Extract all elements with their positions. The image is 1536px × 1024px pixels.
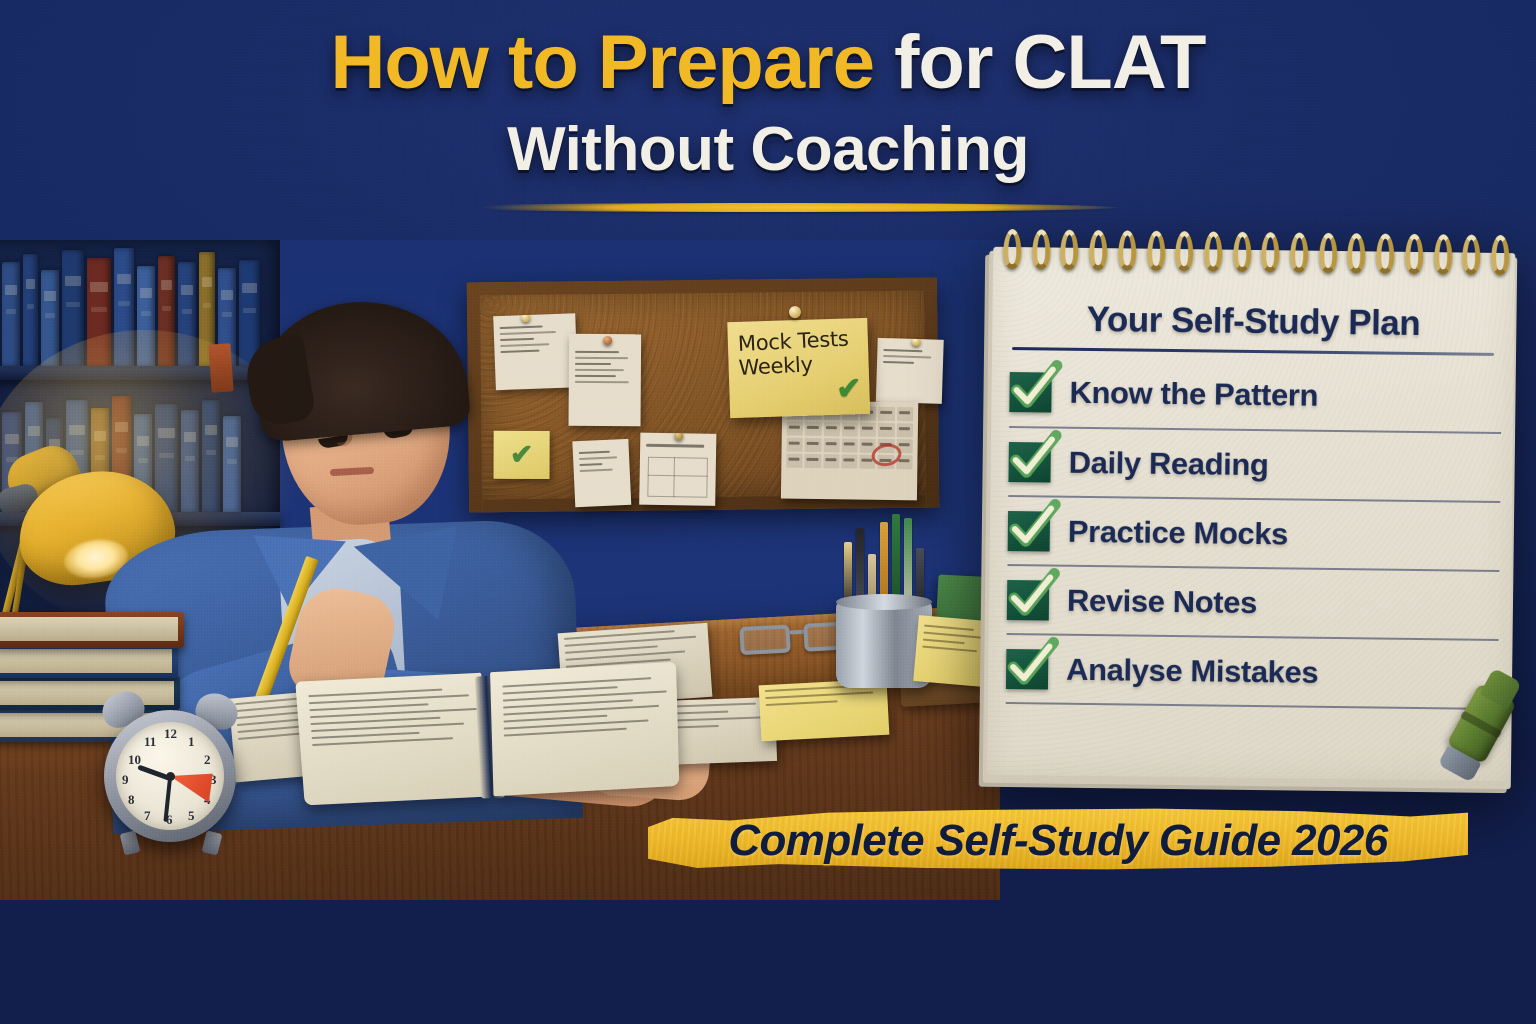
spiral-coil — [1290, 232, 1308, 272]
spiral-coil — [1032, 229, 1050, 269]
spiral-coil — [1347, 233, 1365, 273]
spiral-coil — [1319, 233, 1337, 273]
checklist-item-label: Analyse Mistakes — [1066, 651, 1318, 690]
poster-canvas: How to Prepare for CLAT Without Coaching — [0, 0, 1536, 1024]
checklist-item-3[interactable]: Revise Notes — [1007, 564, 1500, 639]
checklist-item-4[interactable]: Analyse Mistakes — [1006, 633, 1499, 708]
glasses-lens-left — [739, 624, 790, 655]
title-highlight: How to Prepare — [331, 20, 874, 105]
spiral-coil — [1261, 232, 1279, 272]
spiral-coil — [1204, 231, 1222, 271]
pencil-cup-rim — [836, 594, 932, 610]
clock-center-pin — [166, 772, 175, 781]
ribbon-label: Complete Self-Study Guide 2026 — [648, 816, 1468, 866]
book-bookmark — [208, 343, 233, 392]
spiral-coil — [1060, 230, 1078, 270]
checkbox-checked[interactable] — [1007, 579, 1049, 620]
corkboard-note-4 — [876, 338, 944, 404]
book-page-right — [490, 662, 679, 796]
checklist-item-0[interactable]: Know the Pattern — [1009, 357, 1502, 432]
poster-header: How to Prepare for CLAT Without Coaching — [0, 0, 1536, 240]
notepad-heading: Your Self-Study Plan — [992, 299, 1514, 345]
self-study-plan-notepad: Your Self-Study Plan Know the Pattern — [987, 247, 1522, 793]
checkbox-checked[interactable] — [1006, 648, 1048, 689]
checkbox-checked[interactable] — [1008, 510, 1050, 551]
alarm-clock: 12 1 2 3 4 5 6 7 8 9 10 11 — [96, 692, 246, 842]
spiral-coil — [1118, 230, 1136, 270]
bottom-ribbon: Complete Self-Study Guide 2026 — [648, 798, 1468, 882]
open-book — [297, 662, 683, 812]
checklist-item-label: Revise Notes — [1067, 582, 1257, 620]
checklist-item-label: Practice Mocks — [1068, 513, 1289, 552]
spiral-coil — [1089, 230, 1107, 270]
checklist-item-1[interactable]: Daily Reading — [1008, 426, 1501, 501]
desk-sticky-note-2 — [913, 615, 988, 687]
spiral-coil — [1147, 231, 1165, 271]
spiral-coil — [1233, 232, 1251, 272]
checkbox-checked[interactable] — [1009, 372, 1051, 413]
page-title: How to Prepare for CLAT — [0, 24, 1536, 102]
mock-tests-sticky-note: Mock Tests Weekly ✔ — [727, 318, 870, 418]
title-rest: for CLAT — [874, 20, 1206, 105]
notepad-spiral-binding — [1003, 229, 1509, 279]
spiral-coil — [1462, 235, 1480, 275]
corkboard-chart-note — [639, 433, 716, 506]
spiral-coil — [1405, 234, 1423, 274]
spiral-coil — [1434, 234, 1452, 274]
spiral-coil — [1003, 229, 1021, 269]
checklist-item-label: Know the Pattern — [1069, 374, 1318, 413]
book-page-left — [295, 673, 490, 806]
page-subtitle: Without Coaching — [0, 114, 1536, 185]
spiral-coil — [1175, 231, 1193, 271]
checkbox-checked[interactable] — [1008, 442, 1050, 483]
clock-face: 12 1 2 3 4 5 6 7 8 9 10 11 — [116, 722, 224, 830]
check-icon: ✔ — [836, 374, 862, 405]
spiral-coil — [1376, 233, 1394, 273]
checklist-item-2[interactable]: Practice Mocks — [1007, 495, 1500, 570]
checklist: Know the Pattern Daily Reading — [1006, 357, 1502, 724]
title-underline-swoosh — [418, 203, 1118, 212]
spiral-coil — [1491, 235, 1509, 275]
checklist-item-label: Daily Reading — [1068, 444, 1268, 482]
desk-sticky-note-1 — [759, 679, 890, 742]
